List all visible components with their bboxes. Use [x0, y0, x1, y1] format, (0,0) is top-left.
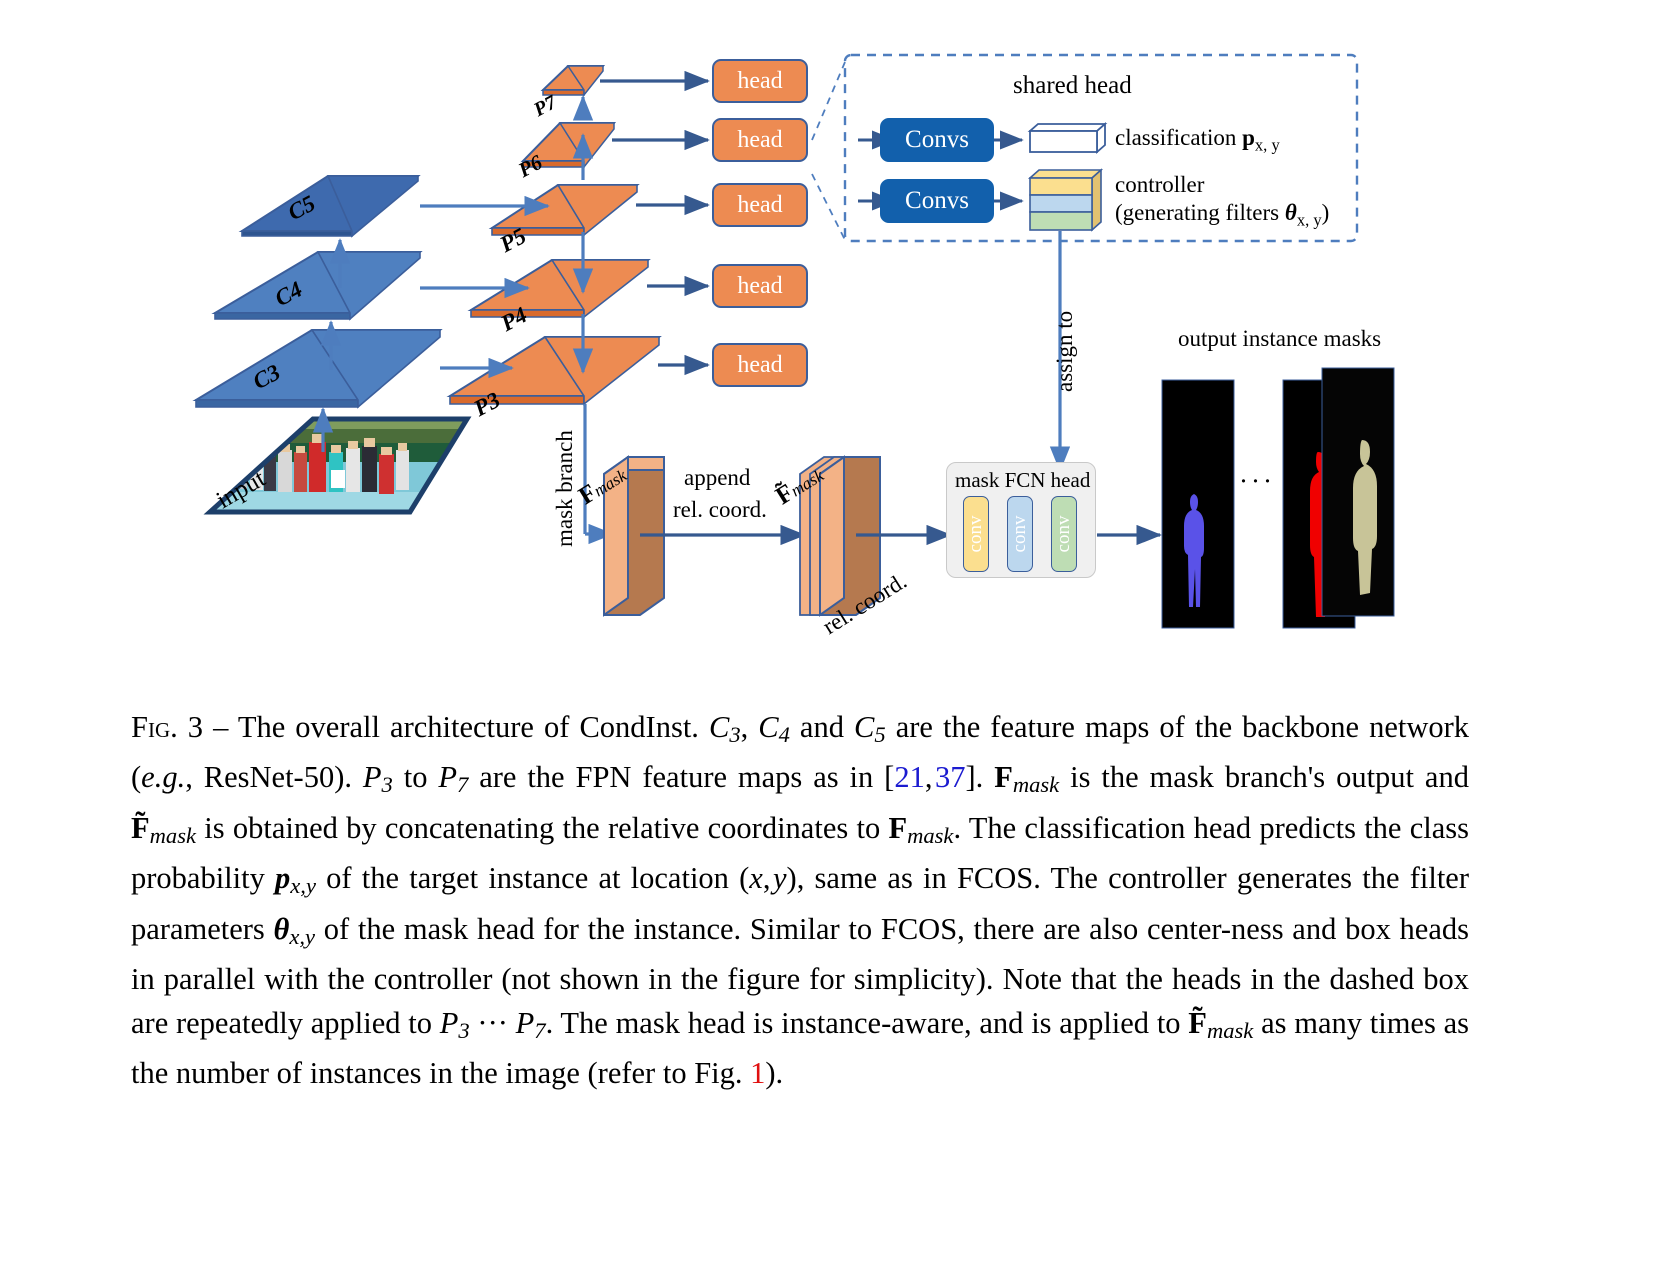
- head-box-label: head: [737, 127, 782, 154]
- convs-label: Convs: [905, 126, 969, 154]
- head-box-label: head: [737, 352, 782, 379]
- head-box-label: head: [737, 273, 782, 300]
- conv-pill-label: conv: [965, 516, 987, 553]
- figure-condinst-architecture: C5 C4 C3 input P7 P6 P5 P4 P3 head head …: [0, 0, 1664, 690]
- convs-box-classification[interactable]: Convs: [880, 118, 994, 162]
- figure-caption: Fig. 3 – The overall architecture of Con…: [131, 706, 1469, 1096]
- head-box-p5[interactable]: head: [712, 183, 808, 227]
- feature-map-c5: [242, 176, 418, 236]
- head-box-label: head: [737, 68, 782, 95]
- classification-subscript: x, y: [1255, 136, 1280, 155]
- conv-pill-label: conv: [1009, 516, 1031, 553]
- controller-stack: [1030, 170, 1101, 230]
- caption-dash: –: [213, 710, 228, 744]
- caption-fig-label: Fig. 3: [131, 710, 203, 744]
- classification-symbol: p: [1242, 125, 1255, 150]
- conv-pill-3[interactable]: conv: [1051, 496, 1077, 572]
- assign-to-label: assign to: [1052, 311, 1078, 392]
- convs-label: Convs: [905, 187, 969, 215]
- head-arrows: [600, 81, 708, 365]
- mask-fcn-head-label: mask FCN head: [955, 468, 1090, 493]
- classification-slab: [1030, 124, 1105, 152]
- masks-ellipsis: ···: [1239, 466, 1275, 497]
- append-label-line2: rel. coord.: [673, 497, 767, 523]
- theta-subscript: x, y: [1297, 211, 1322, 230]
- conv-pill-1[interactable]: conv: [963, 496, 989, 572]
- output-instance-masks-label: output instance masks: [1178, 326, 1381, 352]
- figure-svg: [0, 0, 1664, 690]
- controller-label: controller: [1115, 172, 1204, 198]
- conv-pill-2[interactable]: conv: [1007, 496, 1033, 572]
- head-box-p4[interactable]: head: [712, 264, 808, 308]
- output-mask-1: [1162, 380, 1234, 628]
- head-box-p6[interactable]: head: [712, 118, 808, 162]
- caption-ref-fig1[interactable]: 1: [750, 1056, 765, 1090]
- controller-sublabel: (generating filters θx, y): [1115, 200, 1329, 231]
- output-mask-3: [1322, 368, 1394, 616]
- feature-map-p7: [543, 66, 603, 95]
- theta-symbol: θ: [1285, 200, 1297, 225]
- classification-label: classification px, y: [1115, 125, 1280, 156]
- controller-generating-text: (generating filters: [1115, 200, 1279, 225]
- convs-box-controller[interactable]: Convs: [880, 179, 994, 223]
- feature-map-c3: [196, 330, 440, 407]
- head-box-label: head: [737, 192, 782, 219]
- conv-pill-label: conv: [1053, 516, 1075, 553]
- shared-head-connector: [812, 62, 845, 240]
- caption-ref-37[interactable]: 37: [935, 760, 966, 794]
- head-box-p3[interactable]: head: [712, 343, 808, 387]
- head-box-p7[interactable]: head: [712, 59, 808, 103]
- caption-ref-21[interactable]: 21: [894, 760, 925, 794]
- feature-map-c4: [215, 252, 420, 319]
- shared-head-title: shared head: [1013, 72, 1132, 100]
- append-label-line1: append: [684, 465, 750, 491]
- classification-text: classification: [1115, 125, 1236, 150]
- controller-close-paren: ): [1322, 200, 1330, 225]
